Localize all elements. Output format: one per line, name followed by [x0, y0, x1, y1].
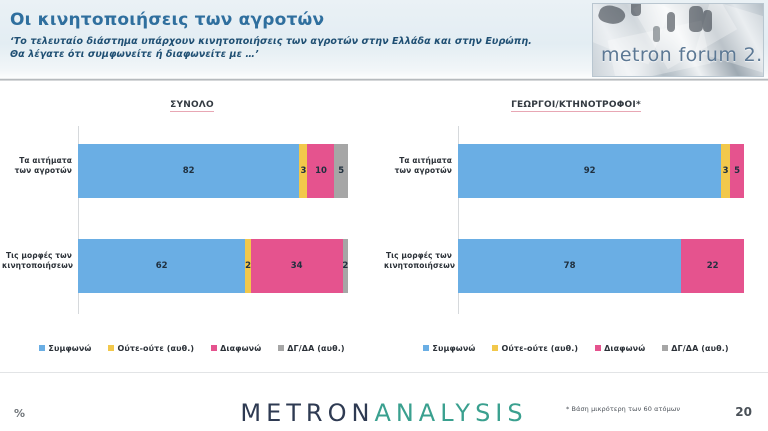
legend-item-agree: Συμφωνώ — [39, 344, 91, 353]
category-label-total-1: Τις μορφές των κινητοποιήσεων — [2, 251, 72, 271]
footer-divider — [0, 372, 768, 373]
bar-segment-disagree: 22 — [681, 239, 744, 293]
bar-value-label: 22 — [707, 262, 719, 271]
page-subtitle-line1: ‘Το τελευταίο διάστημα υπάρχουν κινητοπο… — [10, 35, 570, 48]
legend-label-dk: ΔΓ/ΔΑ (αυθ.) — [671, 344, 728, 353]
bar-value-label: 3 — [300, 167, 306, 176]
category-label-total-0-text: Τα αιτήματα των αγροτών — [2, 156, 72, 176]
legend-swatch-agree — [39, 345, 45, 351]
page-title: Οι κινητοποιήσεις των αγροτών — [10, 9, 570, 31]
bar-segment-agree: 92 — [458, 144, 721, 198]
legend-label-disagree: Διαφωνώ — [604, 344, 645, 353]
footnote: * Βάση μικρότερη των 60 ατόμων — [566, 405, 680, 413]
chart-legend-total: Συμφωνώ Ούτε-ούτε (αυθ.) Διαφωνώ ΔΓ/ΔΑ (… — [0, 340, 384, 356]
chart-title-total-text: ΣΥΝΟΛΟ — [170, 100, 214, 112]
bar-segment-disagree: 10 — [307, 144, 334, 198]
legend-label-agree: Συμφωνώ — [48, 344, 91, 353]
bar-segment-dk: 2 — [343, 239, 348, 293]
bar-segment-disagree: 5 — [730, 144, 744, 198]
bar-value-label: 3 — [723, 167, 729, 176]
bar-segment-agree: 82 — [78, 144, 299, 198]
legend-label-neither: Ούτε-ούτε (αυθ.) — [501, 344, 578, 353]
page-subtitle-line2: Θα λέγατε ότι συμφωνείτε ή διαφωνείτε με… — [10, 48, 570, 61]
bar-segment-neither: 3 — [299, 144, 307, 198]
bar-value-label: 10 — [315, 167, 327, 176]
bar-segment-agree: 62 — [78, 239, 245, 293]
category-label-farmers-0-text: Τα αιτήματα των αγροτών — [384, 156, 452, 176]
slide-header: Οι κινητοποιήσεις των αγροτών ‘Το τελευτ… — [0, 0, 768, 80]
bar-value-label: 5 — [338, 167, 344, 176]
chart-title-farmers: ΓΕΩΡΓΟΙ/ΚΤΗΝΟΤΡΟΦΟΙ* — [384, 100, 768, 110]
table-row: 62 2 34 2 — [78, 239, 348, 293]
chart-title-farmers-text: ΓΕΩΡΓΟΙ/ΚΤΗΝΟΤΡΟΦΟΙ* — [511, 100, 641, 112]
legend-swatch-disagree — [595, 345, 601, 351]
table-row: 82 3 10 5 — [78, 144, 348, 198]
legend-item-neither: Ούτε-ούτε (αυθ.) — [492, 344, 578, 353]
legend-label-neither: Ούτε-ούτε (αυθ.) — [117, 344, 194, 353]
legend-label-dk: ΔΓ/ΔΑ (αυθ.) — [287, 344, 344, 353]
bar-value-label: 62 — [156, 262, 168, 271]
bar-segment-agree: 78 — [458, 239, 681, 293]
bar-segment-neither: 3 — [721, 144, 730, 198]
legend-item-dk: ΔΓ/ΔΑ (αυθ.) — [662, 344, 728, 353]
legend-label-disagree: Διαφωνώ — [220, 344, 261, 353]
legend-swatch-neither — [108, 345, 114, 351]
legend-item-neither: Ούτε-ούτε (αυθ.) — [108, 344, 194, 353]
bar-value-label: 5 — [734, 167, 740, 176]
bar-value-label: 2 — [342, 262, 348, 271]
legend-item-disagree: Διαφωνώ — [211, 344, 261, 353]
chart-panel-farmers: ΓΕΩΡΓΟΙ/ΚΤΗΝΟΤΡΟΦΟΙ* Τα αιτήματα των αγρ… — [384, 96, 768, 336]
category-label-total-0: Τα αιτήματα των αγροτών — [2, 156, 72, 176]
legend-swatch-dk — [278, 345, 284, 351]
legend-swatch-agree — [423, 345, 429, 351]
category-label-farmers-0: Τα αιτήματα των αγροτών — [384, 156, 452, 176]
chart-title-total: ΣΥΝΟΛΟ — [0, 100, 384, 110]
bar-value-label: 92 — [584, 167, 596, 176]
page-subtitle: ‘Το τελευταίο διάστημα υπάρχουν κινητοπο… — [10, 35, 570, 61]
logo-wordmark: metron forum 2.0 — [601, 44, 764, 66]
bar-value-label: 78 — [564, 262, 576, 271]
chart-panel-total: ΣΥΝΟΛΟ Τα αιτήματα των αγροτών Τις μορφέ… — [0, 96, 384, 336]
page-number: 20 — [735, 405, 752, 419]
legend-swatch-neither — [492, 345, 498, 351]
category-label-farmers-1: Τις μορφές των κινητοποιήσεων — [384, 251, 452, 271]
header-text-block: Οι κινητοποιήσεις των αγροτών ‘Το τελευτ… — [10, 9, 570, 61]
legend-swatch-dk — [662, 345, 668, 351]
table-row: 78 22 — [458, 239, 744, 293]
metron-analysis-logo: METRONANALYSIS — [0, 399, 768, 427]
legend-item-disagree: Διαφωνώ — [595, 344, 645, 353]
legend-item-agree: Συμφωνώ — [423, 344, 475, 353]
metron-forum-logo: metron forum 2.0 — [592, 3, 764, 77]
bar-value-label: 82 — [183, 167, 195, 176]
brand-analysis: ANALYSIS — [374, 399, 527, 427]
category-label-total-1-text: Τις μορφές των κινητοποιήσεων — [2, 251, 72, 271]
brand-metron: METRON — [240, 399, 374, 427]
bar-segment-disagree: 34 — [251, 239, 343, 293]
bar-value-label: 34 — [291, 262, 303, 271]
legend-label-agree: Συμφωνώ — [432, 344, 475, 353]
header-divider — [0, 78, 768, 81]
bar-segment-dk: 5 — [334, 144, 348, 198]
category-label-farmers-1-text: Τις μορφές των κινητοποιήσεων — [384, 251, 452, 271]
table-row: 92 3 5 — [458, 144, 744, 198]
legend-item-dk: ΔΓ/ΔΑ (αυθ.) — [278, 344, 344, 353]
legend-swatch-disagree — [211, 345, 217, 351]
chart-legend-farmers: Συμφωνώ Ούτε-ούτε (αυθ.) Διαφωνώ ΔΓ/ΔΑ (… — [384, 340, 768, 356]
